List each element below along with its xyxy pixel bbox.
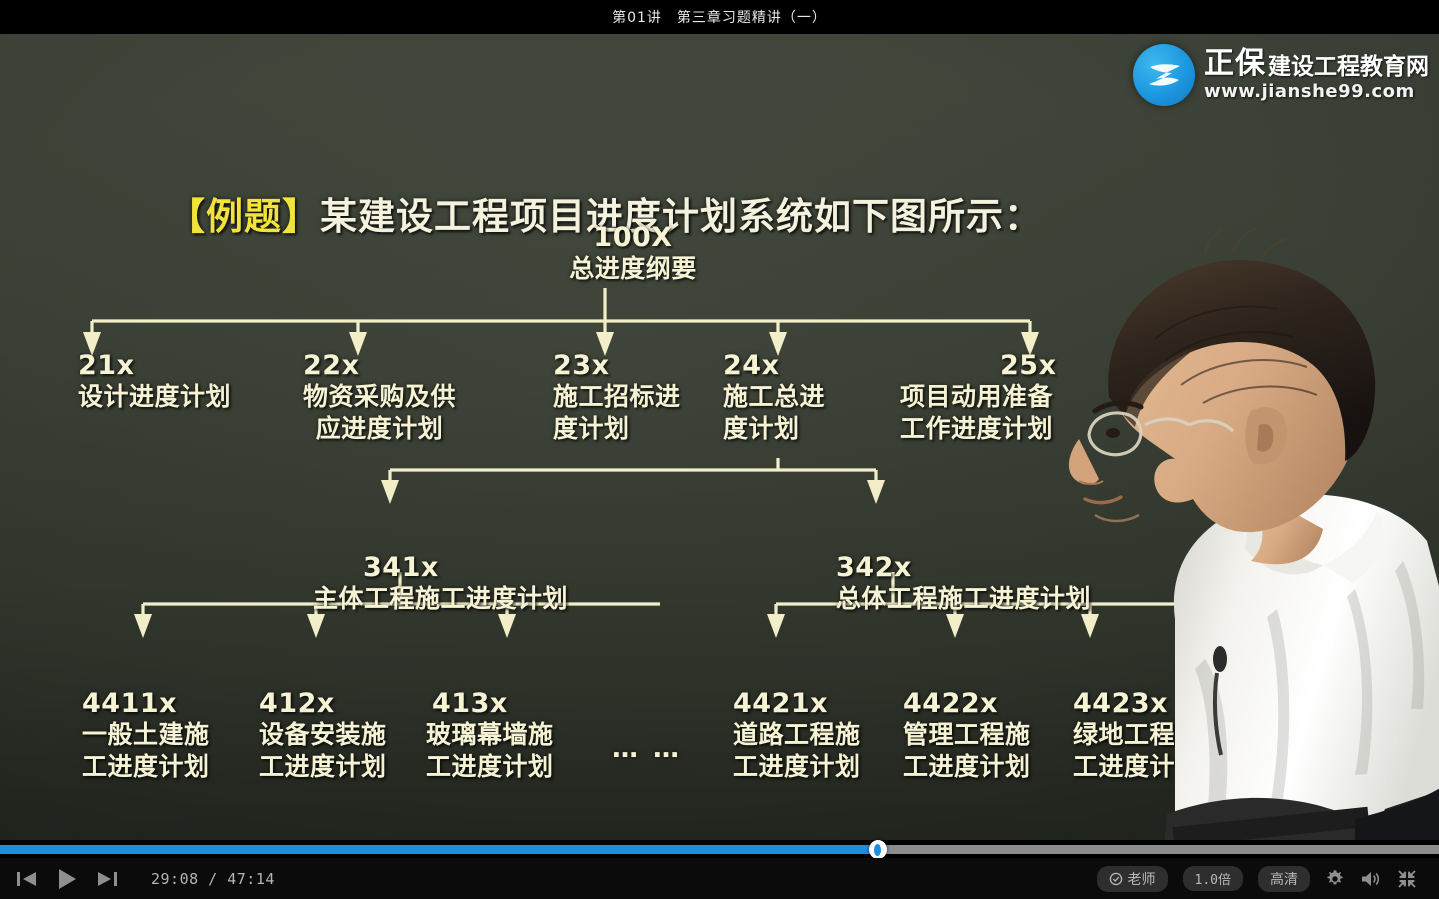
node-25x: 25x 项目动用准备 工作进度计划 — [900, 350, 1057, 445]
node-label-line2: 应进度计划 — [303, 413, 456, 445]
node-label: 管理工程施 — [903, 719, 1031, 751]
quality-button[interactable]: 高清 — [1258, 866, 1310, 892]
playback-speed-button[interactable]: 1.0倍 — [1183, 866, 1243, 891]
node-label: 道路工程施 — [733, 719, 861, 751]
teacher-label: 老师 — [1128, 869, 1156, 889]
logo-brand-strong: 正保 — [1204, 49, 1266, 79]
node-100x: 100X 总进度纲要 — [548, 222, 718, 285]
node-label: 一般土建施 — [82, 719, 210, 751]
node-4421x: 4421x 道路工程施 工进度计划 — [733, 688, 861, 783]
node-label: 设备安装施 — [259, 719, 387, 751]
speed-label: 1.0倍 — [1195, 869, 1231, 888]
node-341x: 341x 主体工程施工进度计划 — [363, 552, 568, 615]
progress-handle[interactable] — [869, 840, 887, 859]
node-code: 341x — [363, 552, 568, 583]
site-logo: 正保 建设工程教育网 www.jianshe99.com — [1133, 44, 1429, 106]
node-code: 25x — [1000, 350, 1057, 381]
node-label: 施工招标进 — [553, 381, 681, 413]
node-code: 100X — [548, 222, 718, 253]
play-icon[interactable] — [55, 867, 79, 891]
node-code: 4422x — [903, 688, 1031, 719]
node-label-line2: 工作进度计划 — [900, 413, 1057, 445]
progress-fill — [0, 845, 878, 854]
node-21x: 21x 设计进度计划 — [78, 350, 231, 413]
quality-label: 高清 — [1270, 869, 1298, 889]
node-24x: 24x 施工总进 度计划 — [723, 350, 825, 445]
node-22x: 22x 物资采购及供 应进度计划 — [303, 350, 456, 445]
video-player-window: 第01讲 第三章习题精讲（一） 正保 建设工程教育网 www.jianshe99… — [0, 0, 1439, 899]
node-label-line2: 工进度计划 — [426, 751, 554, 783]
skip-previous-icon[interactable] — [16, 869, 38, 889]
lecturer-figure — [1055, 189, 1439, 840]
node-413x: 413x 玻璃幕墙施 工进度计划 — [432, 688, 554, 783]
check-circle-icon — [1109, 872, 1123, 886]
exit-fullscreen-icon[interactable] — [1397, 869, 1417, 889]
node-label-line2: 度计划 — [723, 413, 825, 445]
node-code: 342x — [836, 552, 1091, 583]
node-code: 4411x — [82, 688, 210, 719]
video-surface[interactable]: 正保 建设工程教育网 www.jianshe99.com 【例题】某建设工程项目… — [0, 34, 1439, 840]
node-4422x: 4422x 管理工程施 工进度计划 — [903, 688, 1031, 783]
diagram-ellipsis: … … — [612, 734, 682, 764]
node-label: 设计进度计划 — [78, 381, 231, 413]
node-label-line2: 度计划 — [553, 413, 681, 445]
node-code: 412x — [259, 688, 387, 719]
player-control-bar: 29:08 / 47:14 老师 1.0倍 高清 — [0, 858, 1439, 899]
node-label: 主体工程施工进度计划 — [313, 583, 568, 615]
node-label: 总进度纲要 — [548, 253, 718, 285]
node-code: 413x — [432, 688, 554, 719]
node-code: 22x — [303, 350, 456, 381]
logo-brand-rest: 建设工程教育网 — [1268, 56, 1429, 79]
node-label: 项目动用准备 — [900, 381, 1057, 413]
headline-tag: 【例题】 — [168, 195, 320, 238]
node-code: 24x — [723, 350, 825, 381]
time-display: 29:08 / 47:14 — [151, 870, 275, 888]
skip-next-icon[interactable] — [96, 869, 118, 889]
logo-url: www.jianshe99.com — [1204, 83, 1429, 101]
node-4411x: 4411x 一般土建施 工进度计划 — [82, 688, 210, 783]
node-label: 施工总进 — [723, 381, 825, 413]
node-23x: 23x 施工招标进 度计划 — [553, 350, 681, 445]
node-label-line2: 工进度计划 — [82, 751, 210, 783]
node-code: 4421x — [733, 688, 861, 719]
z-swoosh-logo-icon — [1133, 44, 1195, 106]
gear-icon[interactable] — [1325, 869, 1345, 889]
lecture-title: 第01讲 第三章习题精讲（一） — [612, 7, 827, 27]
progress-bar[interactable] — [0, 840, 1439, 858]
volume-on-icon[interactable] — [1360, 870, 1382, 888]
lecture-title-bar: 第01讲 第三章习题精讲（一） — [0, 0, 1439, 34]
node-label-line2: 工进度计划 — [903, 751, 1031, 783]
node-label: 玻璃幕墙施 — [426, 719, 554, 751]
node-label-line2: 工进度计划 — [733, 751, 861, 783]
node-label-line2: 工进度计划 — [259, 751, 387, 783]
node-code: 23x — [553, 350, 681, 381]
node-412x: 412x 设备安装施 工进度计划 — [259, 688, 387, 783]
node-342x: 342x 总体工程施工进度计划 — [836, 552, 1091, 615]
node-code: 21x — [78, 350, 231, 381]
node-label: 总体工程施工进度计划 — [836, 583, 1091, 615]
teacher-selector-button[interactable]: 老师 — [1097, 866, 1168, 892]
node-label: 物资采购及供 — [303, 381, 456, 413]
